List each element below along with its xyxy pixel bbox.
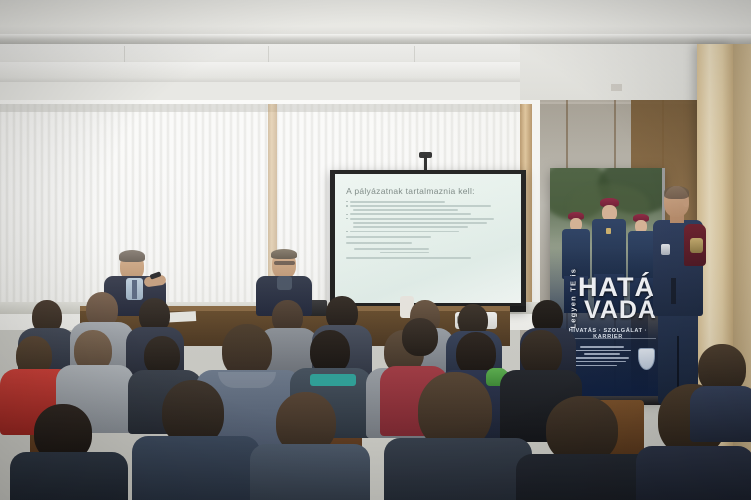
slide-bullet: [346, 218, 510, 220]
body-text-line: [346, 257, 470, 259]
bullet-dot: [346, 231, 348, 233]
attendee-torso: [10, 452, 128, 500]
slide-bullet: [346, 201, 510, 203]
attendee-torso: [690, 386, 751, 442]
screen-top-rod: [424, 155, 427, 171]
officer-badge: [606, 228, 611, 234]
attendee-r3-4: [384, 372, 534, 500]
right-upper-wall: [520, 44, 700, 102]
speaker-collar: [277, 276, 292, 290]
attendee-torso: [250, 444, 370, 500]
wall-socket: [611, 84, 622, 91]
bullet-text-line: [353, 226, 468, 228]
bullet-dot: [346, 218, 348, 220]
slide-bullet: [346, 213, 510, 215]
attendee-r3-1: [132, 380, 262, 500]
contact-line: [580, 346, 625, 348]
glasses: [274, 261, 295, 265]
officer-chest-badge: [661, 244, 670, 255]
officer-hair: [664, 186, 689, 199]
attendee-r3-2: [250, 392, 372, 500]
attendee-r3-5: [516, 396, 656, 500]
bullet-text-line: [350, 205, 491, 207]
bullet-text-line: [353, 209, 458, 211]
attendee-torso: [516, 454, 654, 500]
body-text-line: [346, 242, 411, 244]
bullet-text-line: [350, 218, 494, 220]
slide-title: A pályázatnak tartalmaznia kell:: [346, 186, 510, 196]
body-text-line: [354, 248, 429, 250]
body-text-line: [380, 252, 429, 254]
slide-bullet: [346, 205, 510, 207]
ceiling-light-track: [0, 34, 751, 44]
attendee-torso: [132, 436, 260, 500]
projection-screen: A pályázatnak tartalmaznia kell:: [330, 170, 526, 310]
officer-arm-patch: [690, 238, 703, 253]
bullet-text-line: [350, 201, 445, 203]
attendee-torso: [384, 438, 532, 500]
officer-ear: [683, 199, 689, 207]
attendee-r3-3: [10, 404, 130, 500]
bullet-text-line: [353, 222, 487, 224]
projected-slide: A pályázatnak tartalmaznia kell:: [335, 174, 521, 303]
attendee-torso: [636, 446, 751, 500]
curtain-rod-shadow: [0, 104, 522, 112]
attendee-r3-7: [690, 344, 751, 436]
photo-scene: A pályázatnak tartalmaznia kell:: [0, 0, 751, 500]
speaker-hair: [271, 249, 297, 259]
bullet-dot: [346, 205, 348, 207]
slide-content: A pályázatnak tartalmaznia kell:: [346, 186, 510, 289]
slide-bullet: [346, 231, 510, 233]
shirt-stripe: [310, 374, 356, 386]
speaker-hair: [119, 250, 145, 262]
body-text-line: [346, 236, 431, 238]
officer-belt-pouch: [671, 278, 676, 304]
bullet-dot: [346, 214, 348, 216]
bullet-text-line: [350, 213, 471, 215]
bullet-dot: [346, 201, 348, 203]
contact-line: [584, 353, 620, 355]
bullet-text-line: [350, 231, 460, 233]
